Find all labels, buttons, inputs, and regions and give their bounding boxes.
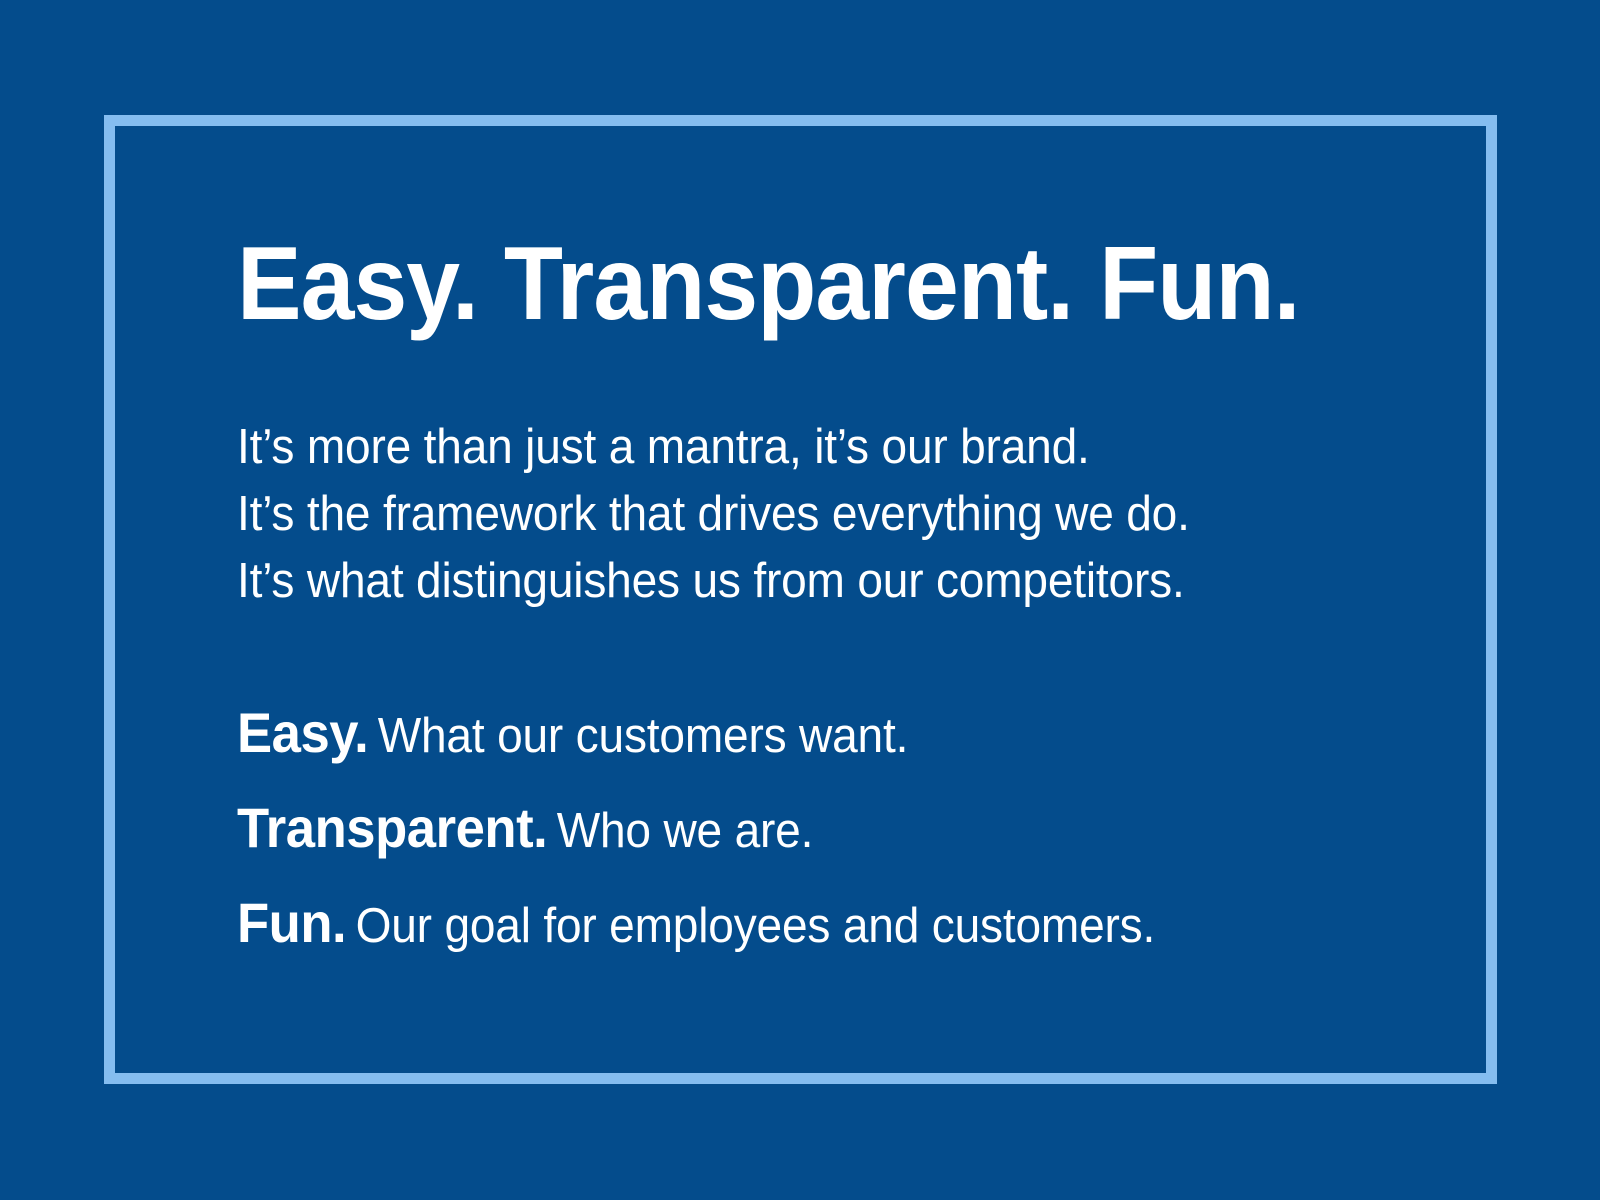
definition-list: Easy.What our customers want. Transparen…: [237, 693, 1417, 978]
slide-canvas: Easy. Transparent. Fun. It’s more than j…: [0, 0, 1600, 1200]
definition-term: Easy.: [237, 701, 368, 764]
paragraph-line: It’s what distinguishes us from our comp…: [237, 548, 1346, 615]
list-item: Easy.What our customers want.: [237, 693, 1346, 788]
definition-description: Who we are.: [547, 804, 813, 858]
definition-term: Transparent.: [237, 796, 547, 859]
list-item: Fun.Our goal for employees and customers…: [237, 883, 1346, 978]
definition-description: What our customers want.: [368, 709, 908, 763]
list-item: Transparent.Who we are.: [237, 788, 1346, 883]
slide-content: Easy. Transparent. Fun. It’s more than j…: [237, 232, 1417, 978]
definition-description: Our goal for employees and customers.: [346, 899, 1155, 953]
page-title: Easy. Transparent. Fun.: [237, 232, 1334, 336]
definition-term: Fun.: [237, 891, 346, 954]
paragraph-line: It’s more than just a mantra, it’s our b…: [237, 414, 1346, 481]
paragraph-line: It’s the framework that drives everythin…: [237, 481, 1346, 548]
intro-paragraph: It’s more than just a mantra, it’s our b…: [237, 414, 1417, 615]
